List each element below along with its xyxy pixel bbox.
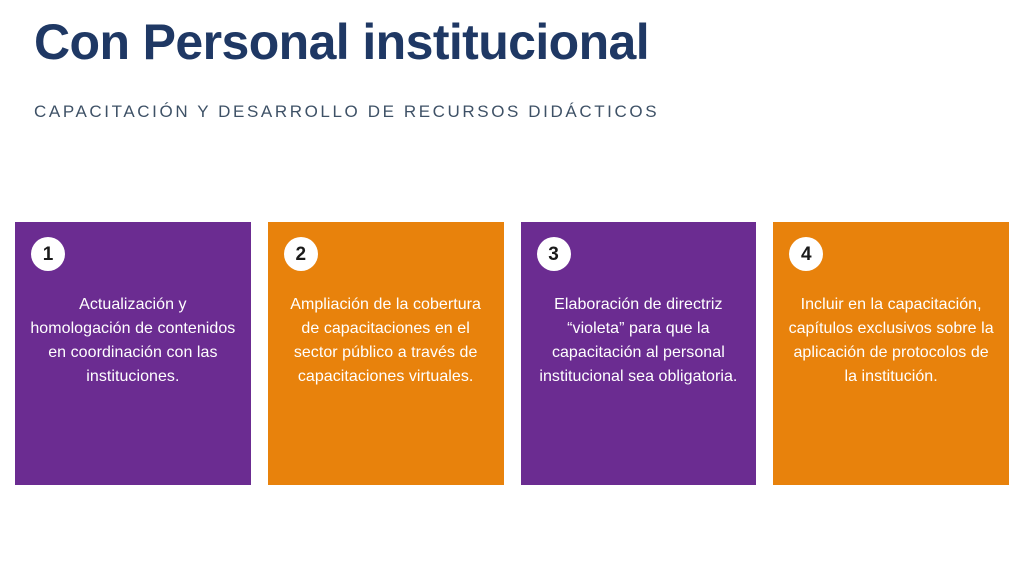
page-subtitle: CAPACITACIÓN Y DESARROLLO DE RECURSOS DI… xyxy=(34,69,994,122)
slide: Con Personal institucional CAPACITACIÓN … xyxy=(0,0,1024,576)
card-text: Incluir en la capacitación, capítulos ex… xyxy=(781,284,1001,389)
card-number-badge: 2 xyxy=(284,237,318,271)
card-number-badge: 4 xyxy=(789,237,823,271)
card-text: Actualización y homologación de contenid… xyxy=(23,284,243,389)
card-body: Ampliación de la cobertura de capacitaci… xyxy=(276,284,496,423)
page-title: Con Personal institucional xyxy=(34,16,994,69)
card-text: Ampliación de la cobertura de capacitaci… xyxy=(276,284,496,389)
list-item[interactable]: 2 Ampliación de la cobertura de capacita… xyxy=(268,222,504,485)
list-item[interactable]: 1 Actualización y homologación de conten… xyxy=(15,222,251,485)
card-text: Elaboración de directriz “violeta” para … xyxy=(529,284,749,389)
card-body: Incluir en la capacitación, capítulos ex… xyxy=(781,284,1001,423)
card-list: 1 Actualización y homologación de conten… xyxy=(15,222,1009,485)
card-number-badge: 1 xyxy=(31,237,65,271)
list-item[interactable]: 4 Incluir en la capacitación, capítulos … xyxy=(773,222,1009,485)
card-body: Actualización y homologación de contenid… xyxy=(23,284,243,423)
card-body: Elaboración de directriz “violeta” para … xyxy=(529,284,749,423)
card-number-badge: 3 xyxy=(537,237,571,271)
slide-header: Con Personal institucional CAPACITACIÓN … xyxy=(34,16,994,122)
list-item[interactable]: 3 Elaboración de directriz “violeta” par… xyxy=(521,222,757,485)
